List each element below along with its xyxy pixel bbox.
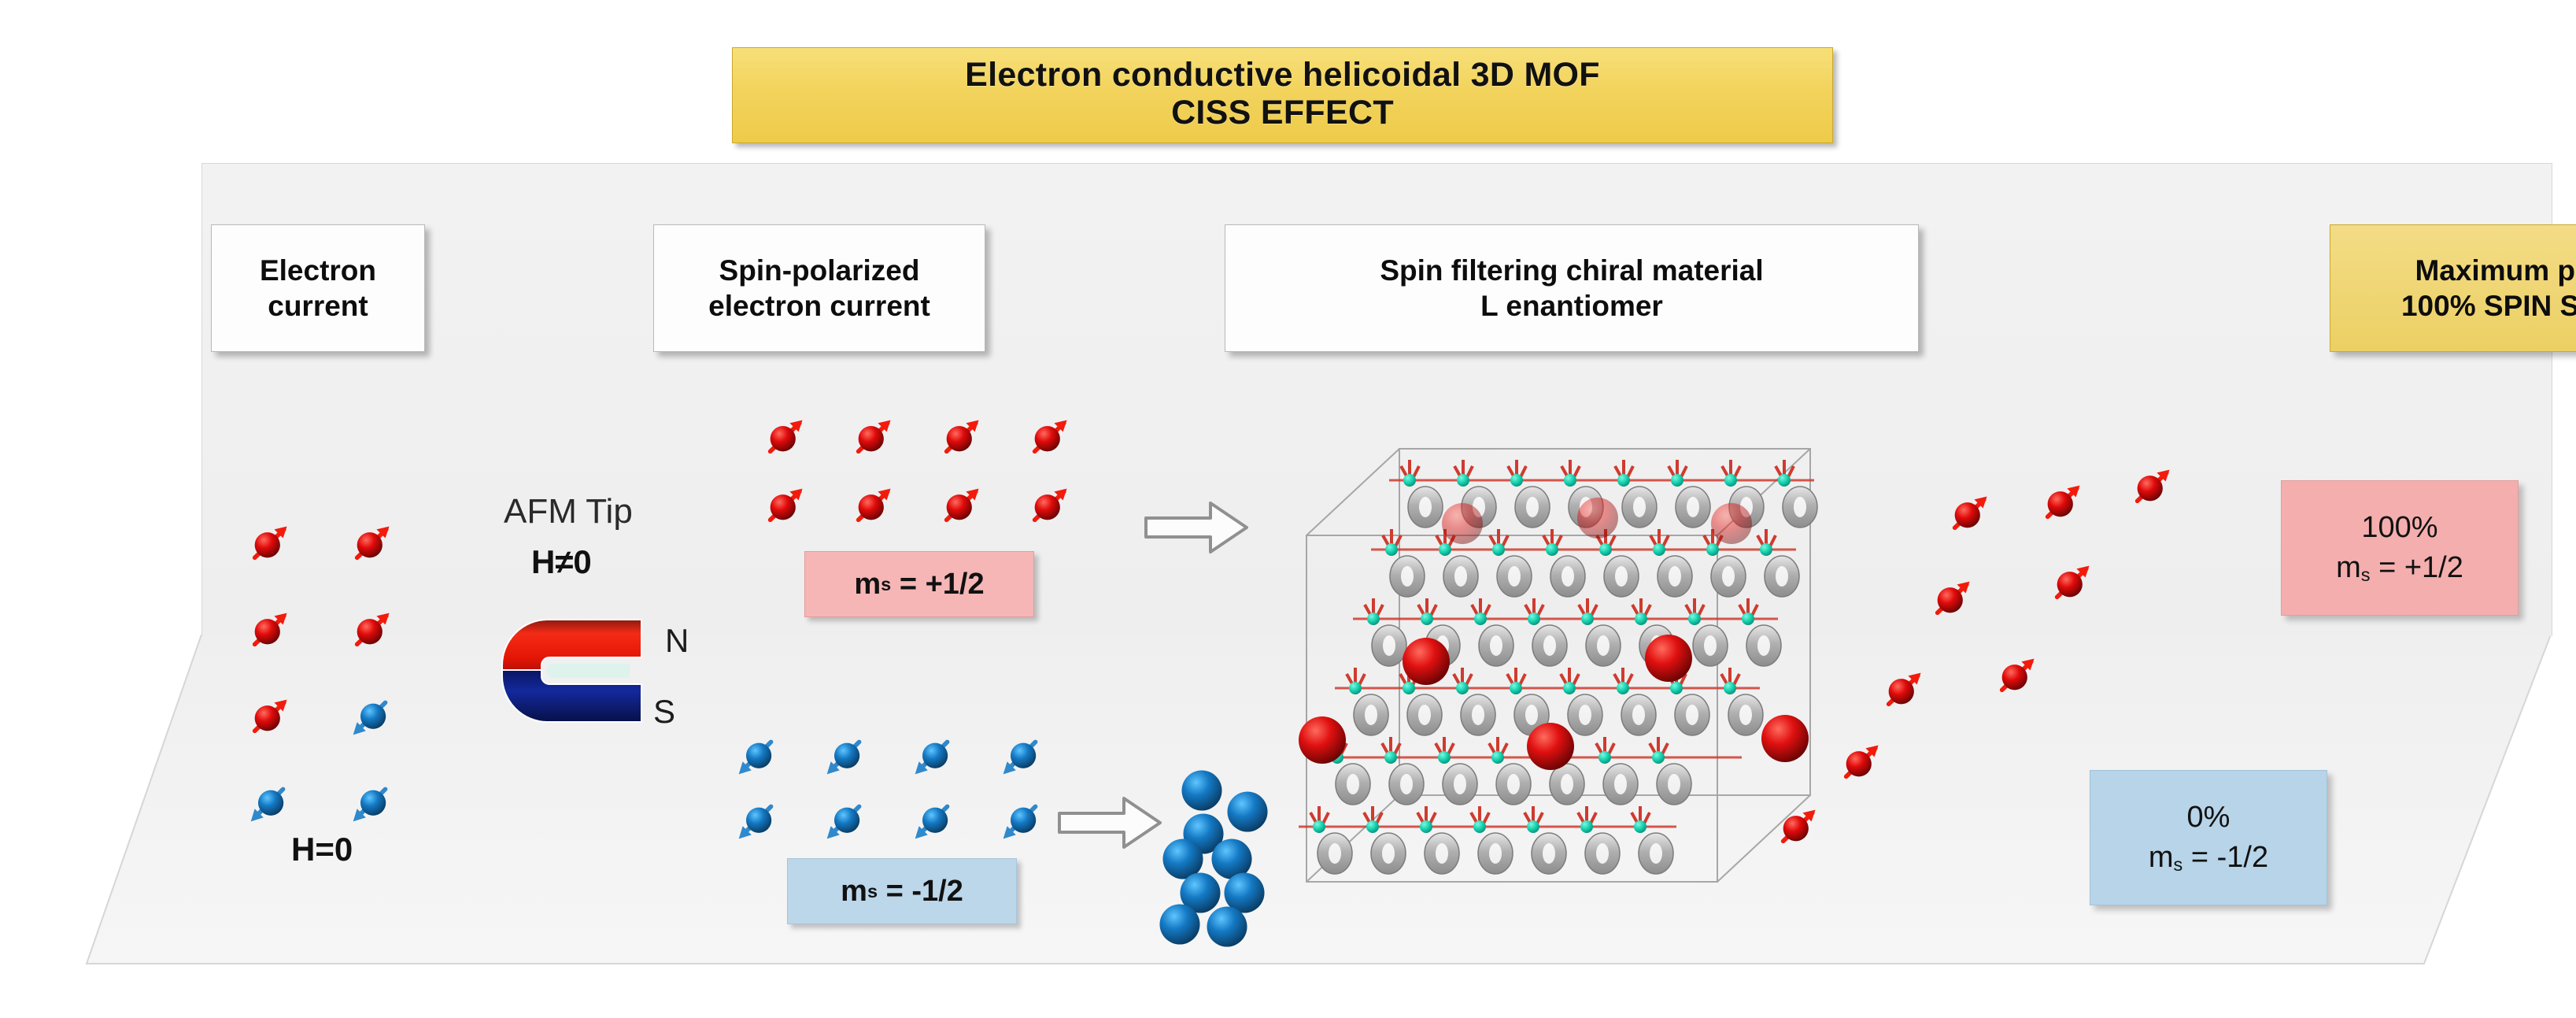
spin-up-particle xyxy=(936,482,985,531)
title-banner: Electron conductive helicoidal 3D MOF CI… xyxy=(732,47,1833,143)
spin-up-particle xyxy=(848,482,896,531)
header-line-1: Spin filtering chiral material xyxy=(1225,253,1918,288)
right-block-arrow-icon-top xyxy=(1141,492,1251,563)
result-ms: ms = -1/2 xyxy=(2149,838,2268,878)
header-max-performance: Maximum performance 100% SPIN SELECTIVIT… xyxy=(2330,224,2576,352)
header-line-1: Maximum performance xyxy=(2330,253,2576,288)
spin-up-particle xyxy=(759,482,808,531)
ms-minus-half-badge: ms = -1/2 xyxy=(787,858,1017,924)
spin-up-particle xyxy=(1944,490,1993,539)
spin-up-particle xyxy=(2127,463,2175,512)
field-nonzero-label: H≠0 xyxy=(531,543,592,581)
spin-down-particle xyxy=(996,732,1045,781)
blocked-electron-sphere xyxy=(1225,789,1270,835)
spin-up-particle xyxy=(1835,739,1884,787)
spin-down-particle xyxy=(346,693,395,742)
ms-plus-half-badge: ms = +1/2 xyxy=(804,551,1034,617)
header-line-2: L enantiomer xyxy=(1225,288,1918,324)
spin-up-particle xyxy=(1024,482,1073,531)
ms-symbol: m xyxy=(854,568,881,602)
spin-up-particle xyxy=(346,520,395,568)
spin-down-particle xyxy=(346,779,395,828)
blocked-electron-sphere xyxy=(1157,901,1203,947)
spin-down-particle xyxy=(908,732,957,781)
spin-up-particle xyxy=(2037,479,2086,528)
blocked-electron-sphere xyxy=(1204,904,1250,950)
spin-up-particle xyxy=(244,520,293,568)
horseshoe-magnet-icon xyxy=(472,602,669,740)
spin-down-particle xyxy=(732,732,781,781)
spin-down-particle xyxy=(996,797,1045,846)
spin-up-particle xyxy=(346,606,395,655)
spin-up-particle xyxy=(1878,666,1927,715)
title-line-1: Electron conductive helicoidal 3D MOF xyxy=(737,56,1828,94)
header-line-1: Electron xyxy=(212,253,424,288)
field-zero-label: H=0 xyxy=(291,831,353,868)
header-line-2: 100% SPIN SELECTIVITY xyxy=(2330,288,2576,324)
right-block-arrow-icon-bottom xyxy=(1055,787,1165,858)
header-line-2: electron current xyxy=(654,288,985,324)
header-spin-filtering: Spin filtering chiral material L enantio… xyxy=(1225,224,1919,352)
result-ms: ms = +1/2 xyxy=(2336,548,2463,588)
ms-value: = -1/2 xyxy=(886,875,963,909)
spin-down-particle xyxy=(908,797,957,846)
spin-up-particle xyxy=(936,413,985,462)
spin-up-particle xyxy=(244,606,293,655)
spin-down-particle xyxy=(820,797,869,846)
result-percent: 100% xyxy=(2361,508,2437,548)
header-line-1: Spin-polarized xyxy=(654,253,985,288)
result-badge-spin-down: 0% ms = -1/2 xyxy=(2090,770,2327,905)
title-line-2: CISS EFFECT xyxy=(737,94,1828,131)
spin-up-particle xyxy=(2046,559,2095,608)
spin-up-particle xyxy=(1927,575,1975,624)
graphical-abstract: Electron conductive helicoidal 3D MOF CI… xyxy=(0,0,2576,1018)
spin-down-particle xyxy=(732,797,781,846)
mof-crystal-structure xyxy=(1259,425,1913,929)
blocked-electron-sphere xyxy=(1179,768,1225,813)
spin-down-particle xyxy=(820,732,869,781)
result-percent: 0% xyxy=(2187,798,2230,838)
afm-tip-label: AFM Tip xyxy=(504,492,633,531)
result-badge-spin-up: 100% ms = +1/2 xyxy=(2281,480,2519,616)
spin-up-particle xyxy=(1024,413,1073,462)
ms-subscript: s xyxy=(867,881,878,902)
spin-up-particle xyxy=(759,413,808,462)
ms-value: = +1/2 xyxy=(900,568,985,602)
ms-subscript: s xyxy=(881,574,891,595)
ms-symbol: m xyxy=(841,875,867,909)
spin-up-particle xyxy=(848,413,896,462)
spin-down-particle xyxy=(244,779,293,828)
header-electron-current: Electron current xyxy=(211,224,425,352)
spin-up-particle xyxy=(1772,803,1821,852)
header-line-2: current xyxy=(212,288,424,324)
header-spin-polarized: Spin-polarized electron current xyxy=(653,224,985,352)
spin-up-particle xyxy=(1991,652,2040,701)
spin-up-particle xyxy=(244,693,293,742)
